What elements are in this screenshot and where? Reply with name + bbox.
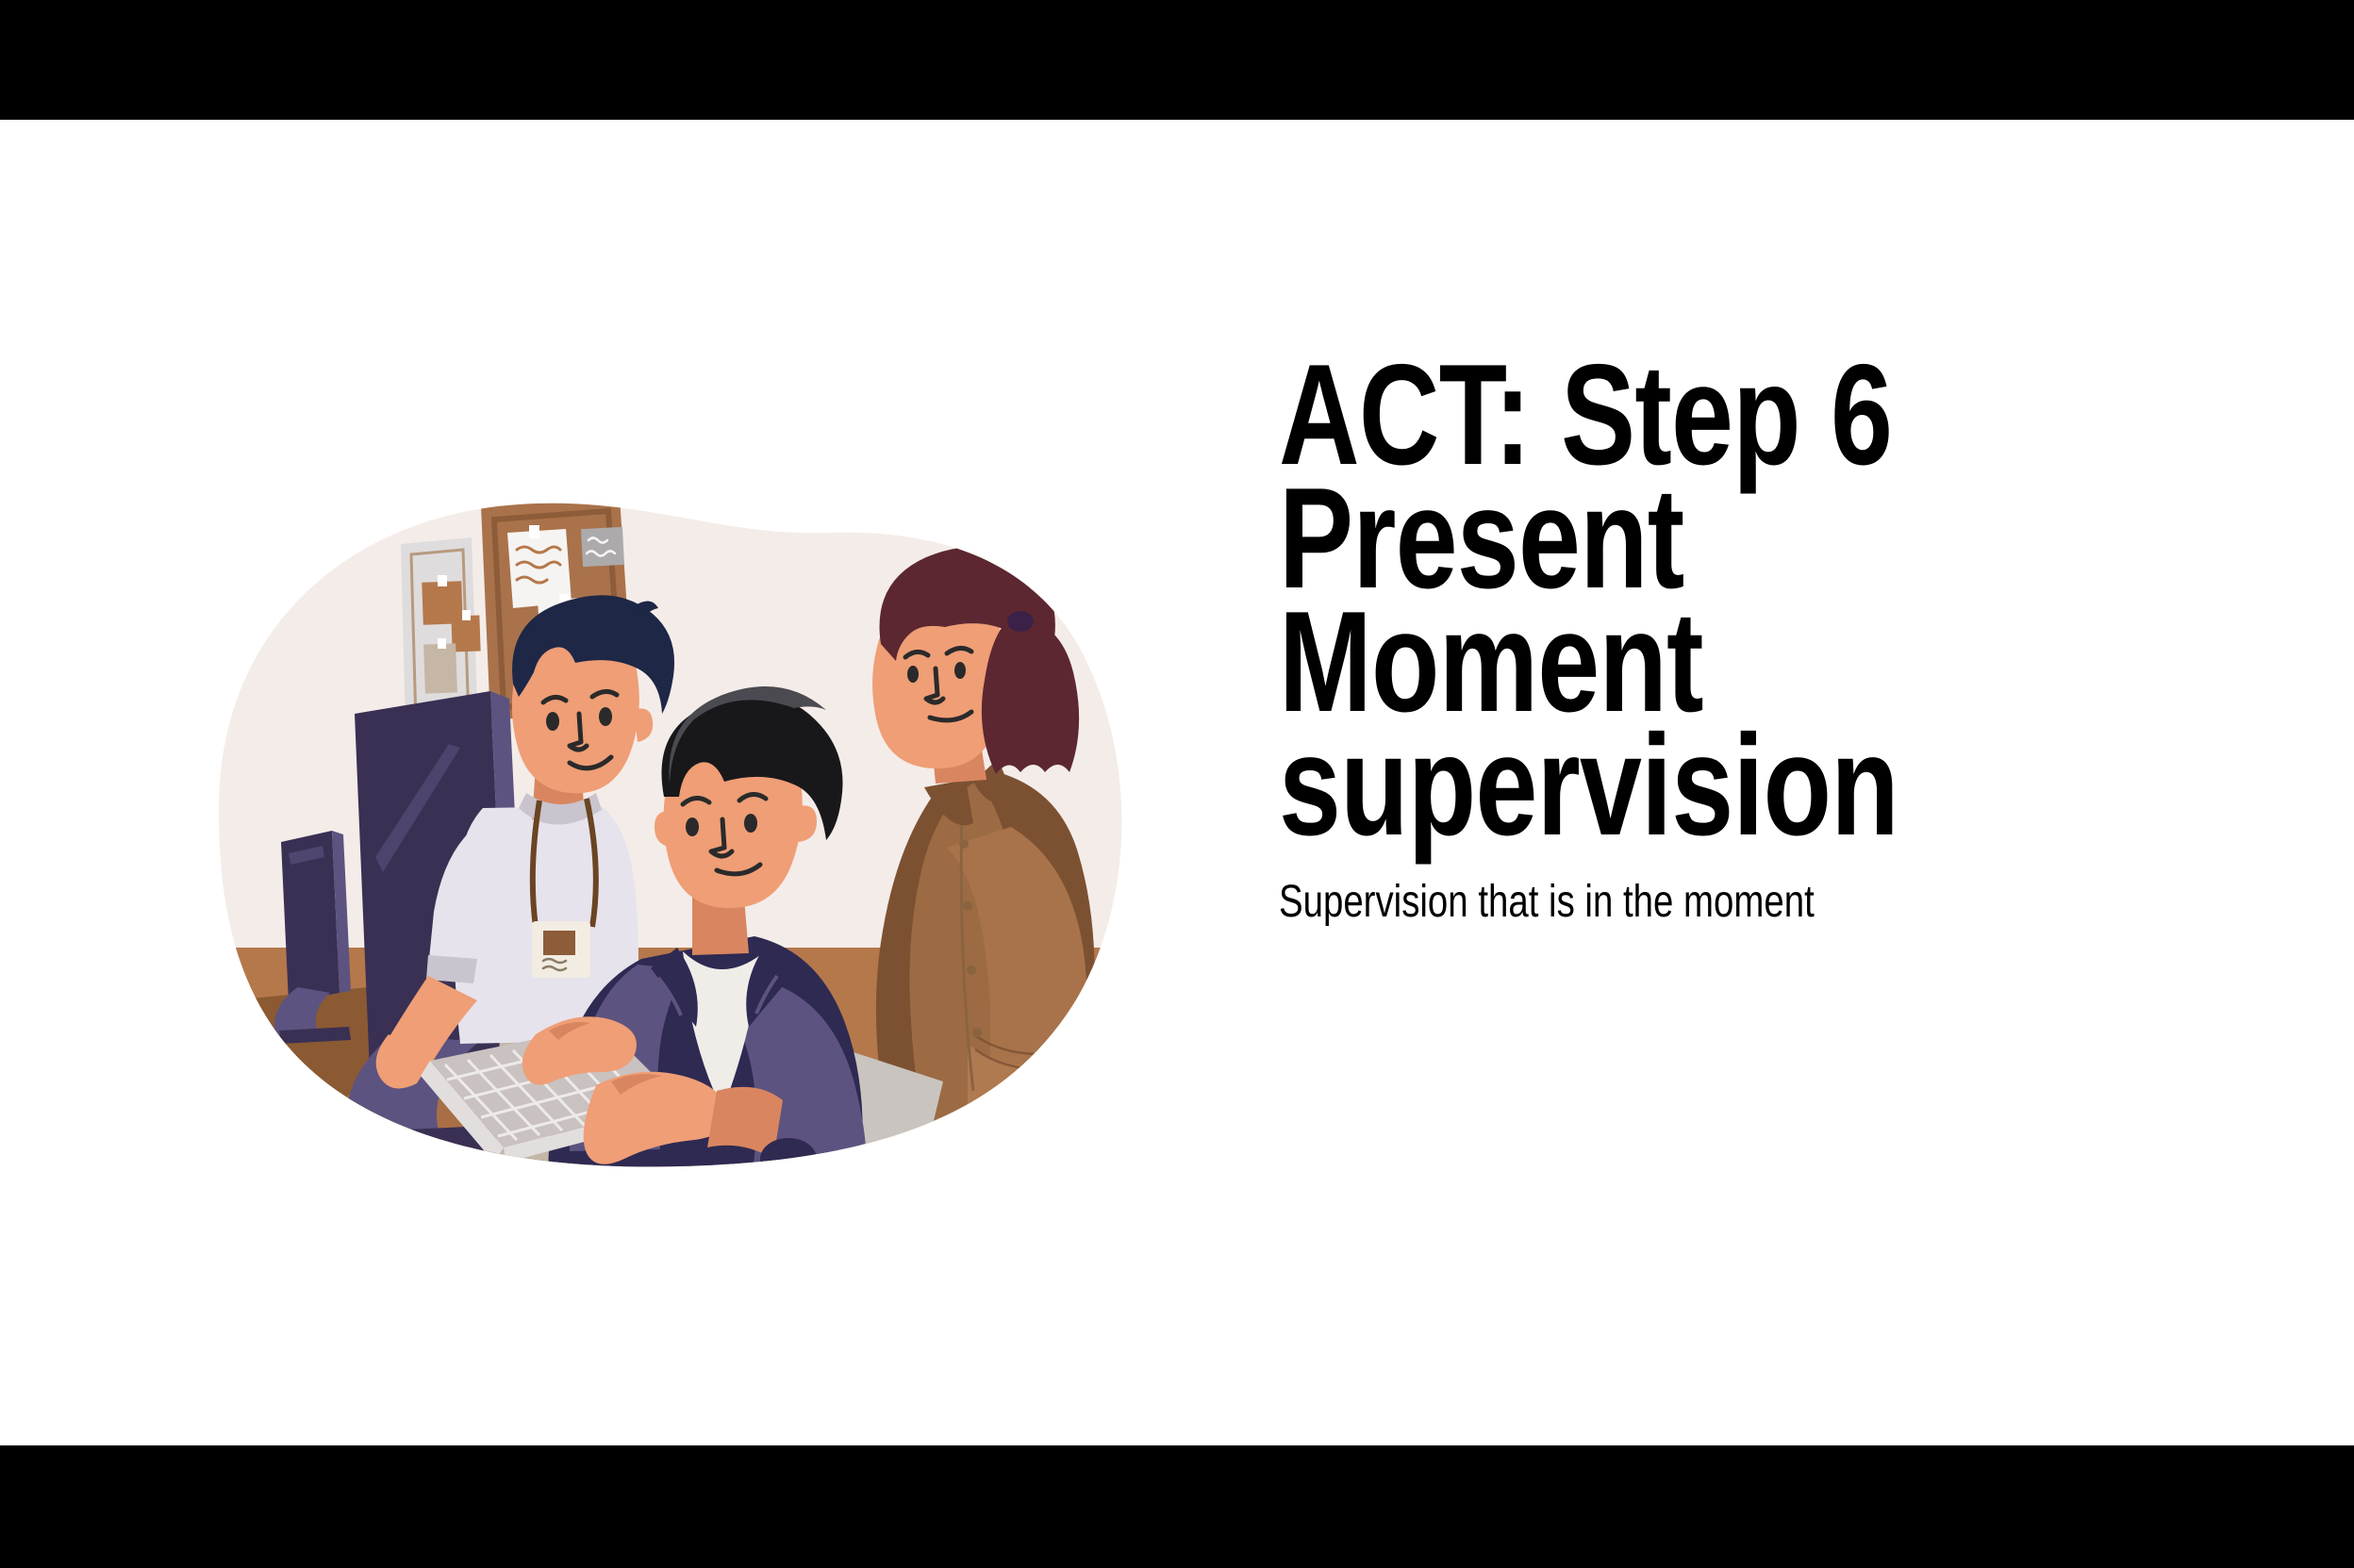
office-team-illustration: [113, 431, 1226, 1185]
letterbox-bar-bottom: [0, 1445, 2354, 1568]
letterbox-bar-top: [0, 0, 2354, 120]
slide-canvas: ACT: Step 6 Present Moment supervision S…: [0, 120, 2354, 1445]
slide-text-column: ACT: Step 6 Present Moment supervision S…: [1279, 354, 2241, 929]
presentation-slide: ACT: Step 6 Present Moment supervision S…: [0, 0, 2354, 1568]
page-title-line-4: supervision: [1279, 724, 2030, 848]
page-subtitle: Supervision that is in the moment: [1279, 876, 2048, 929]
computer-mouse: [760, 1138, 817, 1180]
